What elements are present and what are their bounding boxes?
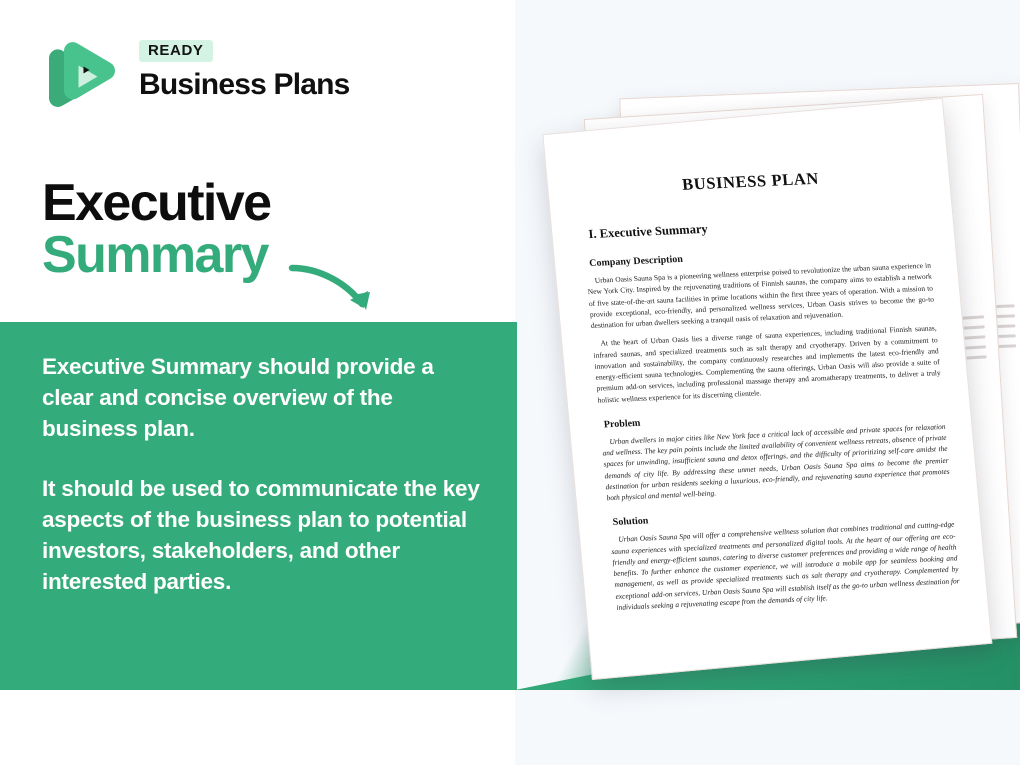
document-section-heading: I. Executive Summary <box>588 212 927 242</box>
page-title: Executive Summary <box>42 178 270 281</box>
summary-body-copy: Executive Summary should provide a clear… <box>42 352 490 598</box>
brand-text-block: READY Business Plans <box>139 40 350 101</box>
document-stack: BUSINESS PLAN I. Executive Summary Compa… <box>520 70 1020 670</box>
document-paragraph: Urban Oasis Sauna Spa will offer a compr… <box>610 519 961 613</box>
document-page-content: BUSINESS PLAN I. Executive Summary Compa… <box>543 117 992 679</box>
document-title: BUSINESS PLAN <box>578 164 924 200</box>
document-page-front[interactable]: BUSINESS PLAN I. Executive Summary Compa… <box>542 98 992 680</box>
brand-name: Business Plans <box>139 69 350 101</box>
document-paragraph: Urban Oasis Sauna Spa is a pioneering we… <box>586 260 935 332</box>
slide-canvas: BUSINESS PLAN I. Executive Summary Compa… <box>0 0 1020 765</box>
brand-logo[interactable]: READY Business Plans <box>40 36 370 122</box>
page-title-line-2: Summary <box>42 230 270 280</box>
document-paragraph: At the heart of Urban Oasis lies a diver… <box>592 323 942 406</box>
summary-paragraph-1: Executive Summary should provide a clear… <box>42 352 490 444</box>
page-title-line-1: Executive <box>42 178 270 228</box>
curved-arrow-down-right-icon <box>288 262 380 324</box>
ready-badge: READY <box>139 40 213 62</box>
play-triangle-logo-icon <box>40 38 120 118</box>
document-paragraph: Urban dwellers in major cities like New … <box>601 421 951 504</box>
summary-paragraph-2: It should be used to communicate the key… <box>42 474 490 597</box>
